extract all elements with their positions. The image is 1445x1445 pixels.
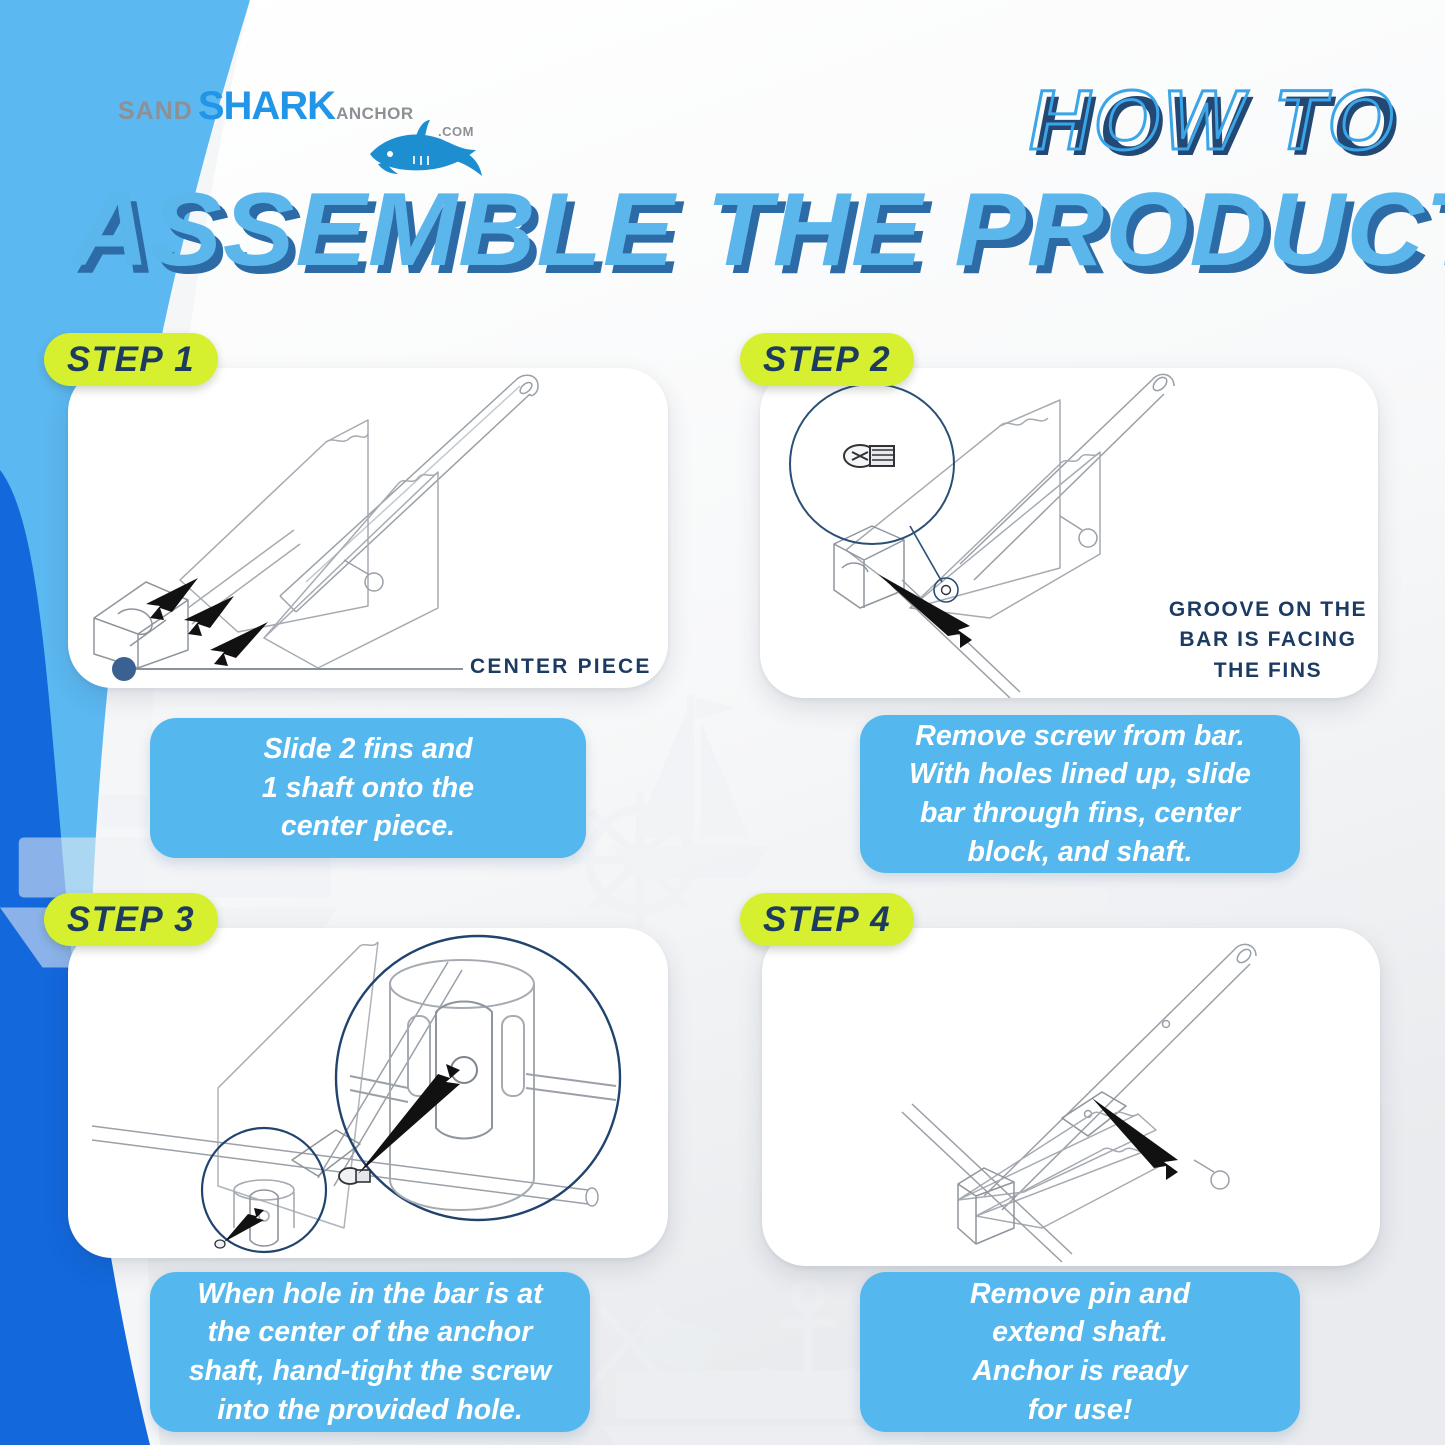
- screw-icon: [844, 445, 894, 467]
- step-3-diagram: [68, 928, 668, 1258]
- step-2-caption: Remove screw from bar.With holes lined u…: [860, 715, 1300, 873]
- step-4-caption: Remove pin andextend shaft.Anchor is rea…: [860, 1272, 1300, 1432]
- step-1-card: [68, 368, 668, 688]
- step-3-caption: When hole in the bar is atthe center of …: [150, 1272, 590, 1432]
- infographic-root: SAND SHARK ANCHOR .COM HOW TO ASSEMBLE T…: [0, 0, 1445, 1445]
- step-3-badge: STEP 3: [44, 893, 218, 946]
- shark-icon: [364, 120, 484, 178]
- brand-logo: SAND SHARK ANCHOR .COM: [118, 88, 438, 158]
- page-title-main: ASSEMBLE THE PRODUCT: [72, 178, 1445, 282]
- step-1-badge: STEP 1: [44, 333, 218, 386]
- step-2-annotation-groove: GROOVE ON THEBAR IS FACINGTHE FINS: [1168, 595, 1368, 686]
- logo-sand-text: SAND: [118, 97, 193, 126]
- logo-shark-text: SHARK: [198, 88, 335, 124]
- step-1-annotation-center-piece: CENTER PIECE: [470, 655, 652, 679]
- step-1-diagram: [68, 368, 668, 688]
- step-3-card: [68, 928, 668, 1258]
- step-4-badge: STEP 4: [740, 893, 914, 946]
- step-4-card: [762, 928, 1380, 1266]
- step-2-badge: STEP 2: [740, 333, 914, 386]
- step-1-caption: Slide 2 fins and1 shaft onto thecenter p…: [150, 718, 586, 858]
- page-title-howto: HOW TO: [1029, 78, 1397, 162]
- step-4-diagram: [762, 928, 1380, 1266]
